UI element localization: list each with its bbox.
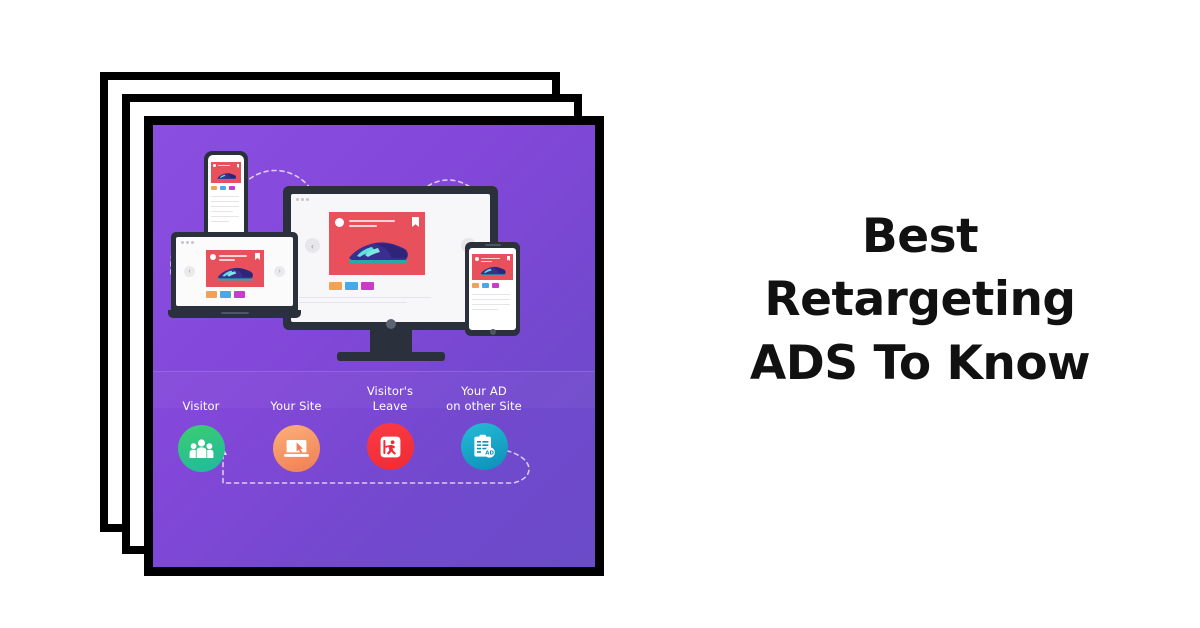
person-exit-door-icon — [367, 423, 414, 470]
phone-screen — [208, 155, 244, 241]
step-label: Your AD on other Site — [424, 384, 544, 414]
tablet-screen — [469, 248, 516, 330]
laptop-lid: ‹ › — [171, 232, 298, 310]
ad-avatar — [210, 254, 216, 260]
laptop-screen: ‹ › — [176, 237, 293, 306]
laptop-cursor-icon — [273, 425, 320, 472]
swatch — [329, 282, 342, 290]
swatch — [361, 282, 374, 290]
sneaker-illustration — [345, 236, 411, 266]
ad-text-line — [219, 259, 235, 261]
ad-text-line — [349, 225, 377, 227]
swatch — [220, 291, 231, 298]
svg-text:AD: AD — [485, 451, 494, 457]
frame-front: f G — [144, 116, 604, 576]
ad-card — [206, 250, 264, 287]
monitor-screen: ‹ › — [291, 194, 490, 322]
ad-text-line — [481, 258, 500, 259]
text-skeleton — [291, 297, 490, 307]
phone-shell — [204, 151, 248, 245]
ad-text-line — [481, 261, 492, 262]
step-label-line: Your AD — [424, 384, 544, 399]
ad-avatar — [335, 218, 344, 227]
swatch — [206, 291, 217, 298]
swatch — [492, 283, 499, 288]
text-skeleton — [469, 294, 516, 314]
swatch — [472, 283, 479, 288]
swatch — [345, 282, 358, 290]
ad-text-line — [218, 165, 230, 166]
swatch — [229, 186, 235, 190]
next-arrow-icon[interactable]: › — [274, 266, 285, 277]
sneaker-illustration — [215, 264, 255, 282]
browser-dots — [176, 237, 293, 248]
ad-card — [211, 162, 241, 183]
color-swatches — [206, 291, 245, 298]
laptop-trackpad — [221, 312, 249, 314]
monitor-power-led — [386, 319, 396, 329]
bookmark-icon — [255, 253, 260, 260]
browser-dots — [291, 194, 490, 205]
sneaker-illustration — [479, 264, 507, 277]
color-swatches — [472, 283, 499, 288]
laptop: ‹ › — [171, 232, 304, 318]
color-swatches — [329, 282, 374, 290]
sneaker-illustration — [216, 171, 237, 181]
step-your-ad-other-site: Your AD on other Site — [424, 384, 544, 470]
smartphone — [204, 151, 248, 245]
clipboard-ad-icon: AD — [461, 423, 508, 470]
bookmark-icon — [412, 217, 419, 227]
prev-arrow-icon[interactable]: ‹ — [184, 266, 195, 277]
laptop-deck — [168, 310, 301, 318]
stacked-frames: f G — [100, 72, 616, 560]
ad-card — [472, 254, 513, 280]
ad-text-line — [349, 220, 395, 222]
swatch — [234, 291, 245, 298]
headline-line-2: Retargeting — [700, 268, 1140, 331]
step-row: Visitor Y — [153, 393, 595, 523]
swatch — [482, 283, 489, 288]
headline-line-1: Best — [700, 205, 1140, 268]
swatch — [211, 186, 217, 190]
tablet-home-button[interactable] — [490, 329, 496, 335]
headline-line-3: ADS To Know — [700, 332, 1140, 395]
page-title: Best Retargeting ADS To Know — [700, 205, 1140, 395]
bookmark-icon — [237, 164, 240, 168]
people-group-icon — [178, 425, 225, 472]
ad-text-line — [219, 255, 247, 257]
tablet-speaker — [485, 244, 501, 246]
ad-card — [329, 212, 425, 275]
ad-avatar — [213, 164, 216, 167]
ad-avatar — [475, 257, 479, 261]
phone-notch — [217, 151, 235, 155]
monitor-base — [337, 352, 445, 361]
text-skeleton — [208, 196, 244, 226]
swatch — [220, 186, 226, 190]
tablet-shell — [465, 242, 520, 336]
poster-artwork: f G — [153, 125, 595, 567]
step-label-line: on other Site — [424, 399, 544, 414]
monitor-neck — [370, 330, 412, 352]
prev-arrow-icon[interactable]: ‹ — [305, 238, 320, 253]
bookmark-icon — [507, 256, 511, 261]
tablet — [465, 242, 520, 336]
color-swatches — [211, 186, 235, 190]
